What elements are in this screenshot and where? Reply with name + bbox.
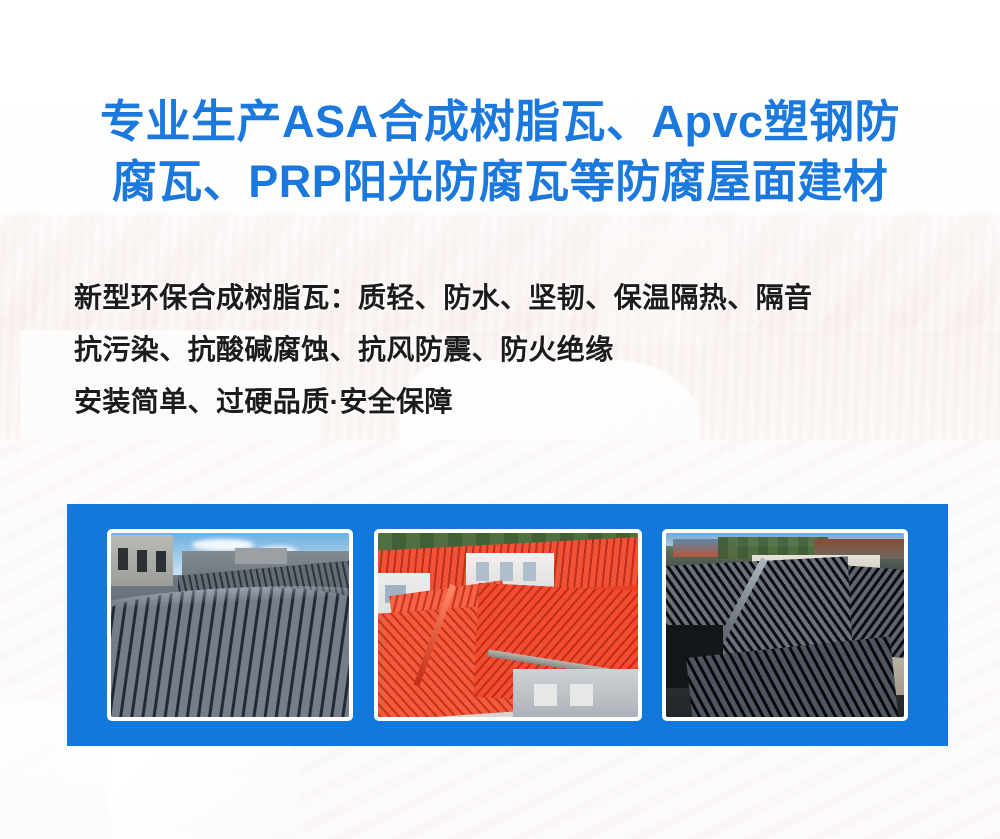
headline: 专业生产ASA合成树脂瓦、Apvc塑钢防 腐瓦、PRP阳光防腐瓦等防腐屋面建材 bbox=[0, 92, 1000, 212]
dark-roof-photo-image bbox=[666, 533, 904, 717]
grey-roof-photo-image bbox=[111, 533, 349, 717]
dark-resin-tile-roof-photo bbox=[662, 529, 908, 721]
subheadline-line-3: 安装简单、过硬品质·安全保障 bbox=[74, 376, 954, 428]
subheadline-line-1: 新型环保合成树脂瓦：质轻、防水、坚韧、保温隔热、隔音 bbox=[74, 272, 954, 324]
red-roof-photo-image bbox=[378, 533, 638, 717]
photo2-window-1 bbox=[476, 562, 489, 580]
photo1-dormer bbox=[235, 548, 287, 565]
red-resin-tile-roof-photo bbox=[374, 529, 642, 721]
photo1-window-3 bbox=[156, 551, 166, 571]
photo2-foreground-window-1 bbox=[534, 684, 557, 706]
photo-gallery-panel bbox=[67, 504, 948, 746]
grey-resin-tile-roof-photo bbox=[107, 529, 353, 721]
headline-line-2: 腐瓦、PRP阳光防腐瓦等防腐屋面建材 bbox=[62, 152, 938, 212]
subheadline: 新型环保合成树脂瓦：质轻、防水、坚韧、保温隔热、隔音 抗污染、抗酸碱腐蚀、抗风防… bbox=[74, 272, 954, 428]
photo2-foreground-window-2 bbox=[570, 684, 593, 706]
photo1-window-1 bbox=[118, 548, 128, 570]
promo-banner: 专业生产ASA合成树脂瓦、Apvc塑钢防 腐瓦、PRP阳光防腐瓦等防腐屋面建材 … bbox=[0, 0, 1000, 839]
photo1-window-2 bbox=[137, 550, 147, 572]
photo2-window-3 bbox=[523, 562, 536, 580]
subheadline-line-2: 抗污染、抗酸碱腐蚀、抗风防震、防火绝缘 bbox=[74, 324, 954, 376]
photo2-window-2 bbox=[500, 562, 513, 580]
headline-line-1: 专业生产ASA合成树脂瓦、Apvc塑钢防 bbox=[62, 92, 938, 152]
